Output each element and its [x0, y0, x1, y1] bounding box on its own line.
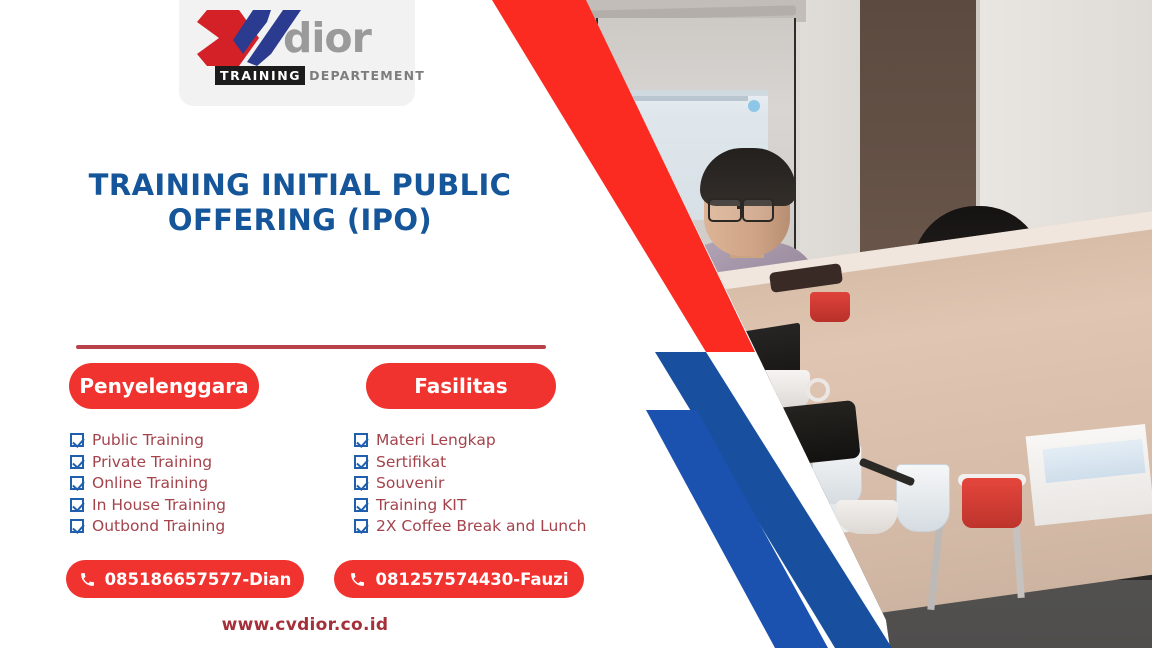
paper-note [603, 454, 718, 495]
white-mug [758, 370, 810, 408]
list-item: In House Training [70, 496, 226, 515]
list-item-label: Public Training [92, 431, 204, 449]
checkbox-icon [70, 519, 84, 533]
checkbox-icon [354, 455, 368, 469]
water-glass-one [600, 352, 638, 408]
checkbox-icon [70, 476, 84, 490]
handout-center [705, 531, 845, 628]
mobile-phone-one [560, 398, 637, 432]
checkbox-icon [354, 498, 368, 512]
list-item: Training KIT [354, 496, 586, 515]
list-item-label: 2X Coffee Break and Lunch [376, 517, 586, 535]
fasilitas-list: Materi Lengkap Sertifikat Souvenir Train… [354, 431, 586, 539]
participant-one-arm [624, 295, 709, 401]
logo-training-badge: TRAINING [215, 66, 305, 85]
water-glass-one-base [602, 420, 634, 427]
list-item: Souvenir [354, 474, 586, 493]
phone-icon [79, 571, 96, 588]
contact-button-dian[interactable]: 085186657577-Dian [66, 560, 304, 598]
checkbox-icon [354, 519, 368, 533]
training-session-photo [560, 0, 1152, 648]
checkbox-icon [70, 498, 84, 512]
list-item-label: Training KIT [376, 496, 466, 514]
logo-card: dior TRAINING DEPARTEMENT [179, 0, 415, 106]
list-item-label: Outbond Training [92, 517, 225, 535]
list-item: Online Training [70, 474, 226, 493]
checkbox-icon [354, 476, 368, 490]
list-item-label: Private Training [92, 453, 212, 471]
page-title: TRAINING INITIAL PUBLIC OFFERING (IPO) [40, 168, 560, 239]
red-cup-three [962, 478, 1022, 528]
list-item: 2X Coffee Break and Lunch [354, 517, 586, 536]
list-item: Private Training [70, 453, 226, 472]
participant-one-hand-right [661, 294, 701, 342]
checkbox-icon [354, 433, 368, 447]
poster-canvas: dior TRAINING DEPARTEMENT TRAINING INITI… [0, 0, 1152, 648]
logo-wrap: dior TRAINING DEPARTEMENT [197, 8, 397, 86]
list-item-label: In House Training [92, 496, 226, 514]
logo-tagline: TRAINING DEPARTEMENT [215, 66, 425, 85]
red-cup-one [560, 330, 598, 364]
website-url[interactable]: www.cvdior.co.id [40, 615, 570, 635]
list-item-label: Online Training [92, 474, 208, 492]
participant-one-watch [673, 347, 701, 364]
laptop-screen-line-two [676, 421, 724, 433]
logo-department-label: DEPARTEMENT [305, 68, 425, 83]
checkbox-icon [70, 433, 84, 447]
list-item: Sertifikat [354, 453, 586, 472]
list-item: Public Training [70, 431, 226, 450]
list-item-label: Materi Lengkap [376, 431, 496, 449]
red-cup-two [810, 292, 850, 322]
contact-label: 081257574430-Fauzi [375, 570, 568, 589]
list-item: Outbond Training [70, 517, 226, 536]
laptop-screen-line-one [676, 406, 738, 421]
penyelenggara-list: Public Training Private Training Online … [70, 431, 226, 539]
section-divider [76, 345, 546, 349]
contact-label: 085186657577-Dian [105, 570, 292, 589]
blue-diagonal-stripe-inner [646, 410, 828, 648]
contact-button-fauzi[interactable]: 081257574430-Fauzi [334, 560, 584, 598]
photo-scene [560, 0, 1152, 648]
right-side-artwork [0, 0, 1152, 648]
checkbox-icon [70, 455, 84, 469]
participant-one-glasses-bridge [737, 206, 744, 209]
section-heading-penyelenggara: Penyelenggara [69, 363, 259, 409]
small-bowl [836, 500, 898, 534]
white-mug-handle [806, 378, 830, 402]
participant-one-glasses-right [742, 198, 774, 222]
list-item-label: Sertifikat [376, 453, 446, 471]
water-glass-one-stem [614, 404, 622, 422]
section-heading-fasilitas: Fasilitas [366, 363, 556, 409]
projected-highlight [748, 100, 760, 112]
logo-wordmark: dior [283, 14, 371, 62]
list-item-label: Souvenir [376, 474, 444, 492]
participant-one-glasses-left [708, 198, 742, 222]
phone-icon [349, 571, 366, 588]
list-item: Materi Lengkap [354, 431, 586, 450]
laptop-base [656, 482, 786, 517]
laptop-open-screen [664, 381, 778, 511]
participant-one-hand-left [626, 294, 673, 348]
